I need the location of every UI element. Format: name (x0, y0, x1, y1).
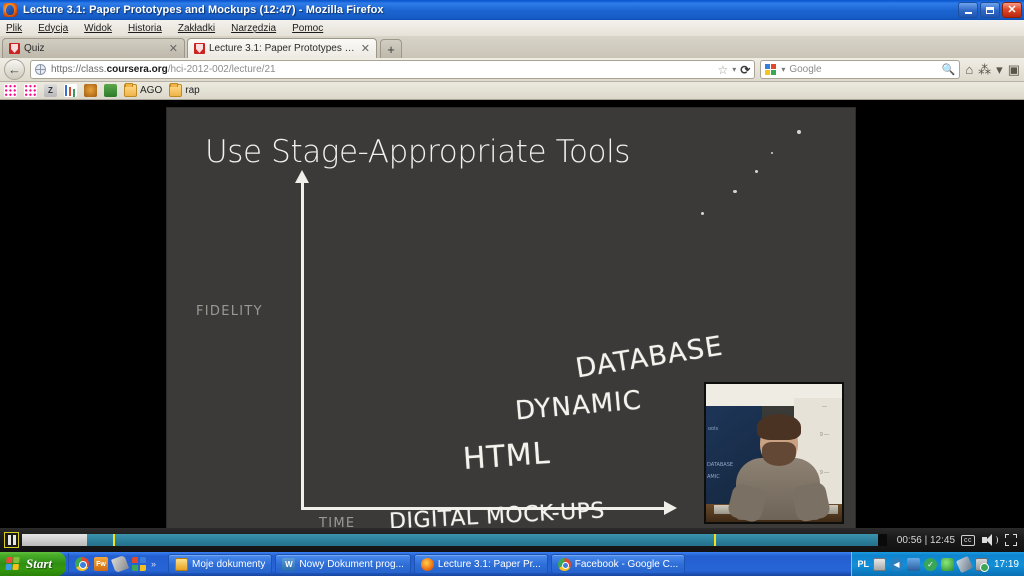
fireworks-icon[interactable]: Fw (94, 557, 108, 571)
speaker-icon (982, 534, 998, 546)
taskbar: Start Fw » Moje dokumenty W Nowy Dokumen… (0, 552, 1024, 576)
search-bar[interactable]: ▾ Google 🔍 (760, 60, 960, 79)
bookmark-folder-ago[interactable]: AGO (124, 84, 162, 97)
quick-launch-bar: Fw » (68, 553, 162, 575)
firefox-icon (421, 558, 434, 571)
window-title: Lecture 3.1: Paper Prototypes and Mockup… (23, 4, 384, 16)
language-indicator[interactable]: PL (857, 559, 869, 569)
chapter-marker[interactable] (714, 534, 716, 546)
tools-icon[interactable]: ⁂ (978, 62, 991, 78)
usb-icon[interactable] (956, 555, 973, 572)
folder-icon (124, 84, 137, 97)
safely-remove-icon[interactable] (975, 558, 988, 571)
bookmarks-bar: Z AGO rap (0, 82, 1024, 100)
chalk-speck (733, 190, 737, 193)
network-icon[interactable] (907, 558, 920, 571)
hair (757, 414, 801, 440)
cc-icon: cc (961, 535, 975, 546)
volume-button[interactable] (982, 534, 998, 546)
bookmark-label: AGO (140, 85, 162, 96)
whiteboard-text: — (822, 404, 827, 410)
bookmark-zotero[interactable]: Z (44, 84, 57, 97)
dots-grid-icon (24, 84, 37, 97)
url-path: /hci-2012-002/lecture/21 (168, 64, 276, 75)
url-prefix: https://class. (51, 64, 107, 75)
y-axis-label: FIDELITY (196, 304, 263, 319)
restore-icon (986, 7, 994, 14)
tab-lecture[interactable]: Lecture 3.1: Paper Prototypes and Mock..… (187, 38, 377, 58)
bookmark-chart[interactable] (64, 84, 77, 97)
back-arrow-icon: ← (8, 62, 21, 77)
coursera-favicon (9, 43, 20, 54)
chalkboard-text: DATABASE (707, 462, 733, 468)
url-text: https://class.coursera.org/hci-2012-002/… (51, 64, 276, 75)
close-icon: ✕ (1007, 5, 1016, 16)
update-icon[interactable] (941, 558, 954, 571)
fullscreen-icon (1005, 534, 1017, 546)
pause-button[interactable] (4, 532, 19, 548)
tab-quiz[interactable]: Quiz ✕ (2, 38, 185, 58)
bookmark-phone[interactable] (84, 84, 97, 97)
menu-item-edycja[interactable]: Edycja (38, 23, 68, 34)
google-icon (765, 64, 777, 76)
task-facebook-chrome[interactable]: Facebook - Google C... (551, 554, 685, 574)
bookmark-folder-rap[interactable]: rap (169, 84, 199, 97)
menu-item-pomoc[interactable]: Pomoc (292, 23, 323, 34)
address-bar[interactable]: https://class.coursera.org/hci-2012-002/… (30, 60, 755, 79)
progress-bar[interactable] (22, 534, 887, 546)
home-icon[interactable]: ⌂ (965, 62, 973, 77)
fullscreen-button[interactable] (1005, 534, 1017, 546)
url-domain: coursera.org (107, 64, 168, 75)
bookmark-star-icon[interactable]: ☆ (717, 63, 728, 77)
captions-button[interactable]: cc (961, 535, 975, 546)
clock[interactable]: 17:19 (992, 559, 1019, 570)
task-list: Moje dokumenty W Nowy Dokument prog... L… (162, 554, 851, 574)
y-axis (301, 180, 304, 510)
plus-icon: + (387, 42, 395, 57)
beard (762, 442, 796, 466)
back-button[interactable]: ← (4, 59, 25, 80)
video-control-bar: 00:56 | 12:45 cc (0, 528, 1024, 552)
search-icon[interactable]: 🔍 (942, 63, 956, 76)
antivirus-icon[interactable]: ✓ (924, 558, 937, 571)
task-moje-dokumenty[interactable]: Moje dokumenty (168, 554, 272, 574)
show-hidden-icon[interactable]: ◀ (890, 558, 903, 571)
pencil-icon[interactable] (111, 555, 129, 573)
globe-icon (35, 64, 46, 75)
keyboard-icon[interactable] (873, 558, 886, 571)
chalk-speck (701, 212, 704, 215)
close-button[interactable]: ✕ (1002, 2, 1022, 18)
system-tray: PL ◀ ✓ 17:19 (851, 552, 1024, 576)
task-label: Moje dokumenty (192, 559, 265, 570)
chalk-speck (797, 130, 801, 134)
task-nowy-dokument[interactable]: W Nowy Dokument prog... (275, 554, 411, 574)
menu-item-narzedzia[interactable]: Narzędzia (231, 23, 276, 34)
firefox-icon (3, 3, 17, 17)
slide-title: Use Stage-Appropriate Tools (205, 134, 630, 170)
page-content: Use Stage-Appropriate Tools FIDELITY TIM… (0, 100, 1024, 552)
task-label: Nowy Dokument prog... (299, 559, 404, 570)
chalk-speck (771, 152, 773, 154)
instructor-figure (736, 414, 820, 514)
start-button[interactable]: Start (0, 552, 66, 576)
tab-label: Quiz (24, 43, 165, 54)
chrome-icon (558, 558, 571, 571)
bookmark-label: rap (185, 85, 199, 96)
minimize-icon (965, 12, 972, 14)
buffer-fill (22, 534, 878, 546)
instructor-video-thumbnail[interactable]: ools DATABASE AMIC — 9 — 9 — (704, 382, 844, 524)
chalk-speck (755, 170, 758, 173)
chevron-down-icon[interactable]: ▾ (781, 65, 785, 74)
zotero-icon: Z (44, 84, 57, 97)
tab-close-icon[interactable]: ✕ (361, 42, 370, 55)
bookmark-evernote[interactable] (104, 84, 117, 97)
time-display: 00:56 | 12:45 (897, 535, 955, 546)
bookmark-dots-2[interactable] (24, 84, 37, 97)
whiteboard-text: 9 — (820, 470, 829, 476)
chevron-down-icon[interactable]: ▾ (732, 65, 736, 74)
menu-item-zakladki[interactable]: Zakładki (178, 23, 215, 34)
folder-icon (175, 558, 188, 571)
annotation-database: DATABASE (573, 331, 725, 385)
task-label: Facebook - Google C... (575, 559, 678, 570)
navigation-toolbar: ← https://class.coursera.org/hci-2012-00… (0, 58, 1024, 82)
windows-logo-icon (5, 557, 21, 571)
annotation-dynamic: DYNAMIC (514, 386, 643, 427)
bookmark-dots-1[interactable] (4, 84, 17, 97)
chalkboard-text: AMIC (707, 474, 720, 480)
address-bar-actions: ☆ ▾ ⟳ (711, 63, 750, 77)
chevron-right-icon[interactable]: » (151, 559, 156, 569)
telephone-icon (84, 84, 97, 97)
annotation-html: HTML (462, 436, 552, 477)
folder-icon (169, 84, 182, 97)
menu-bar: Plik Edycja Widok Historia Zakładki Narz… (0, 20, 1024, 36)
task-label: Lecture 3.1: Paper Pr... (438, 559, 541, 570)
lecture-slide[interactable]: Use Stage-Appropriate Tools FIDELITY TIM… (167, 108, 855, 528)
browser-window: Lecture 3.1: Paper Prototypes and Mockup… (0, 0, 1024, 576)
search-input[interactable]: Google (789, 64, 821, 75)
menu-item-plik[interactable]: Plik (6, 23, 22, 34)
reload-icon[interactable]: ⟳ (740, 63, 750, 77)
task-lecture-firefox[interactable]: Lecture 3.1: Paper Pr... (414, 554, 548, 574)
minimize-button[interactable] (958, 2, 978, 18)
new-tab-button[interactable]: + (380, 39, 402, 58)
chalkboard-text: ools (708, 426, 718, 432)
word-icon: W (282, 558, 295, 571)
color-squares-icon[interactable] (132, 557, 146, 571)
restore-button[interactable] (980, 2, 1000, 18)
menu-item-historia[interactable]: Historia (128, 23, 162, 34)
evernote-icon (104, 84, 117, 97)
tab-close-icon[interactable]: ✕ (169, 42, 178, 55)
title-bar: Lecture 3.1: Paper Prototypes and Mockup… (0, 0, 1024, 20)
chart-bars-icon (64, 84, 77, 97)
chrome-icon[interactable] (75, 557, 89, 571)
chapter-marker[interactable] (113, 534, 115, 546)
coursera-favicon (194, 43, 205, 54)
extension-icon[interactable]: ▣ (1008, 62, 1020, 78)
whiteboard-text: 9 — (820, 432, 829, 438)
start-label: Start (26, 556, 52, 572)
played-fill (22, 534, 87, 546)
chevron-down-icon[interactable]: ▾ (996, 62, 1003, 78)
window-controls: ✕ (958, 2, 1022, 18)
tab-label: Lecture 3.1: Paper Prototypes and Mock..… (209, 43, 357, 54)
dots-grid-icon (4, 84, 17, 97)
menu-item-widok[interactable]: Widok (84, 23, 112, 34)
tab-strip: Quiz ✕ Lecture 3.1: Paper Prototypes and… (0, 36, 1024, 58)
